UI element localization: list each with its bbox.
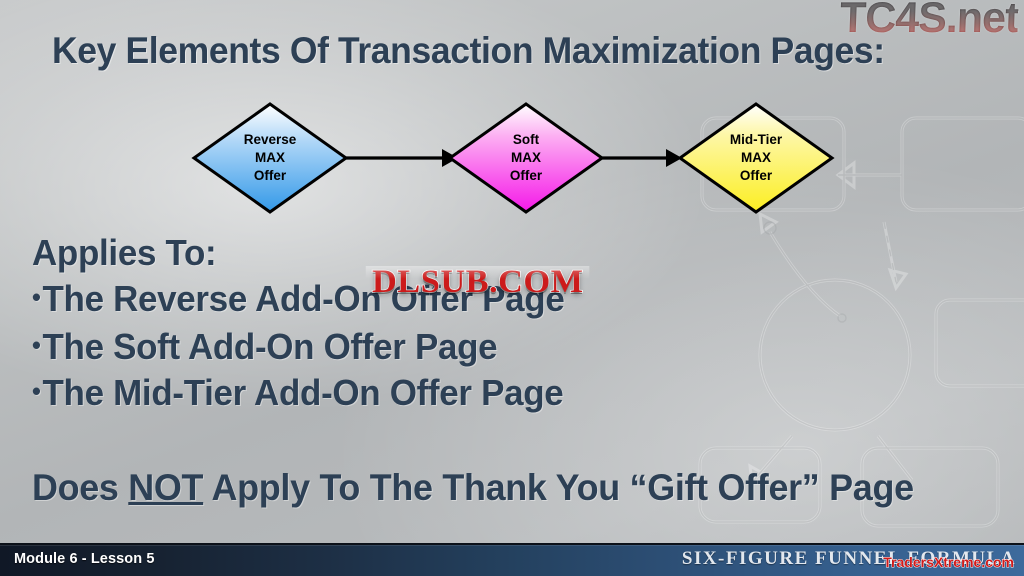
diamond-shape-icon <box>190 100 350 216</box>
flow-connector-1 <box>346 100 458 216</box>
flow-connector-2 <box>600 100 682 216</box>
flow-node-soft-max-offer[interactable]: Soft MAX Offer <box>446 100 606 216</box>
bullet-item-text: The Mid-Tier Add-On Offer Page <box>42 372 563 413</box>
tradersxtreme-watermark: TradersXtreme.com <box>883 554 1014 570</box>
page-title: Key Elements Of Transaction Maximization… <box>52 30 885 72</box>
bullet-item-soft: •The Soft Add-On Offer Page <box>32 326 497 368</box>
flow-node-reverse-max-offer[interactable]: Reverse MAX Offer <box>190 100 350 216</box>
flow-node-mid-tier-max-offer[interactable]: Mid-Tier MAX Offer <box>676 100 836 216</box>
exclusion-after: Apply To The Thank You “Gift Offer” Page <box>203 467 914 508</box>
diamond-shape-icon <box>446 100 606 216</box>
exclusion-statement: Does NOT Apply To The Thank You “Gift Of… <box>32 467 914 509</box>
diamond-shape-icon <box>676 100 836 216</box>
bullet-item-mid-tier: •The Mid-Tier Add-On Offer Page <box>32 372 563 414</box>
flow-diagram: Reverse MAX Offer Soft <box>0 100 1024 220</box>
footer-bar: Module 6 - Lesson 5 SIX-FIGURE FUNNEL FO… <box>0 543 1024 576</box>
module-lesson-label: Module 6 - Lesson 5 <box>14 551 154 567</box>
slide-canvas: TC4S.net Key Elements Of Transaction Max… <box>0 0 1024 576</box>
bullet-item-text: The Soft Add-On Offer Page <box>42 326 497 367</box>
applies-to-heading: Applies To: <box>32 232 216 274</box>
dlsub-watermark: DLSUB.COM <box>372 264 584 301</box>
exclusion-emphasis: NOT <box>128 467 203 508</box>
exclusion-before: Does <box>32 467 128 508</box>
